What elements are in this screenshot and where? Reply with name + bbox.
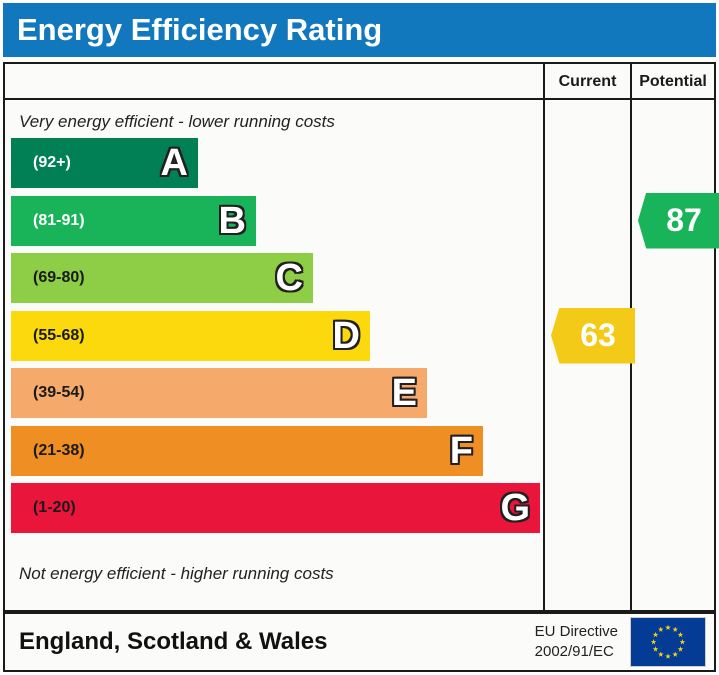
- rating-band-g: (1-20)G: [11, 483, 540, 533]
- rating-band-b: (81-91)B: [11, 196, 256, 246]
- footer-region-label: England, Scotland & Wales: [19, 628, 327, 656]
- rating-band-e: (39-54)E: [11, 368, 427, 418]
- band-letter-e: E: [392, 374, 417, 412]
- band-letter-g: G: [500, 489, 530, 527]
- caption-inefficient: Not energy efficient - higher running co…: [19, 564, 334, 584]
- body-divider-current: [543, 100, 545, 610]
- band-letter-d: D: [333, 317, 360, 355]
- current-rating-marker: 63: [551, 308, 635, 364]
- rating-band-f: (21-38)F: [11, 426, 483, 476]
- table-body: Very energy efficient - lower running co…: [5, 100, 714, 610]
- band-letter-f: F: [450, 432, 473, 470]
- band-range-d: (55-68): [33, 327, 85, 345]
- band-range-e: (39-54): [33, 384, 85, 402]
- band-range-f: (21-38): [33, 442, 85, 460]
- band-range-a: (92+): [33, 154, 71, 172]
- band-range-c: (69-80): [33, 269, 85, 287]
- band-letter-b: B: [219, 202, 246, 240]
- column-header-potential: Potential: [632, 64, 714, 100]
- rating-band-a: (92+)A: [11, 138, 198, 188]
- rating-bands: (92+)A(81-91)B(69-80)C(55-68)D(39-54)E(2…: [5, 138, 543, 558]
- band-range-b: (81-91): [33, 212, 85, 230]
- band-range-g: (1-20): [33, 499, 76, 517]
- column-header-current: Current: [545, 64, 630, 100]
- page-title: Energy Efficiency Rating: [17, 12, 382, 48]
- footer-bar: England, Scotland & Wales EU Directive 2…: [3, 612, 716, 672]
- energy-efficiency-rating-chart: Energy Efficiency Rating Current Potenti…: [0, 0, 719, 675]
- potential-rating-marker: 87: [638, 193, 719, 249]
- table-header-row: Current Potential: [5, 64, 714, 100]
- footer-directive-line2: 2002/91/EC: [535, 642, 618, 662]
- caption-efficient: Very energy efficient - lower running co…: [19, 112, 335, 132]
- rating-table: Current Potential Very energy efficient …: [3, 62, 716, 612]
- eu-flag-icon: [630, 617, 706, 667]
- band-letter-a: A: [161, 144, 188, 182]
- footer-directive: EU Directive 2002/91/EC: [535, 622, 618, 663]
- rating-band-d: (55-68)D: [11, 311, 370, 361]
- current-rating-value: 63: [570, 317, 616, 354]
- rating-band-c: (69-80)C: [11, 253, 313, 303]
- footer-directive-line1: EU Directive: [535, 622, 618, 642]
- title-bar: Energy Efficiency Rating: [3, 3, 716, 57]
- band-letter-c: C: [276, 259, 303, 297]
- potential-rating-value: 87: [656, 202, 702, 239]
